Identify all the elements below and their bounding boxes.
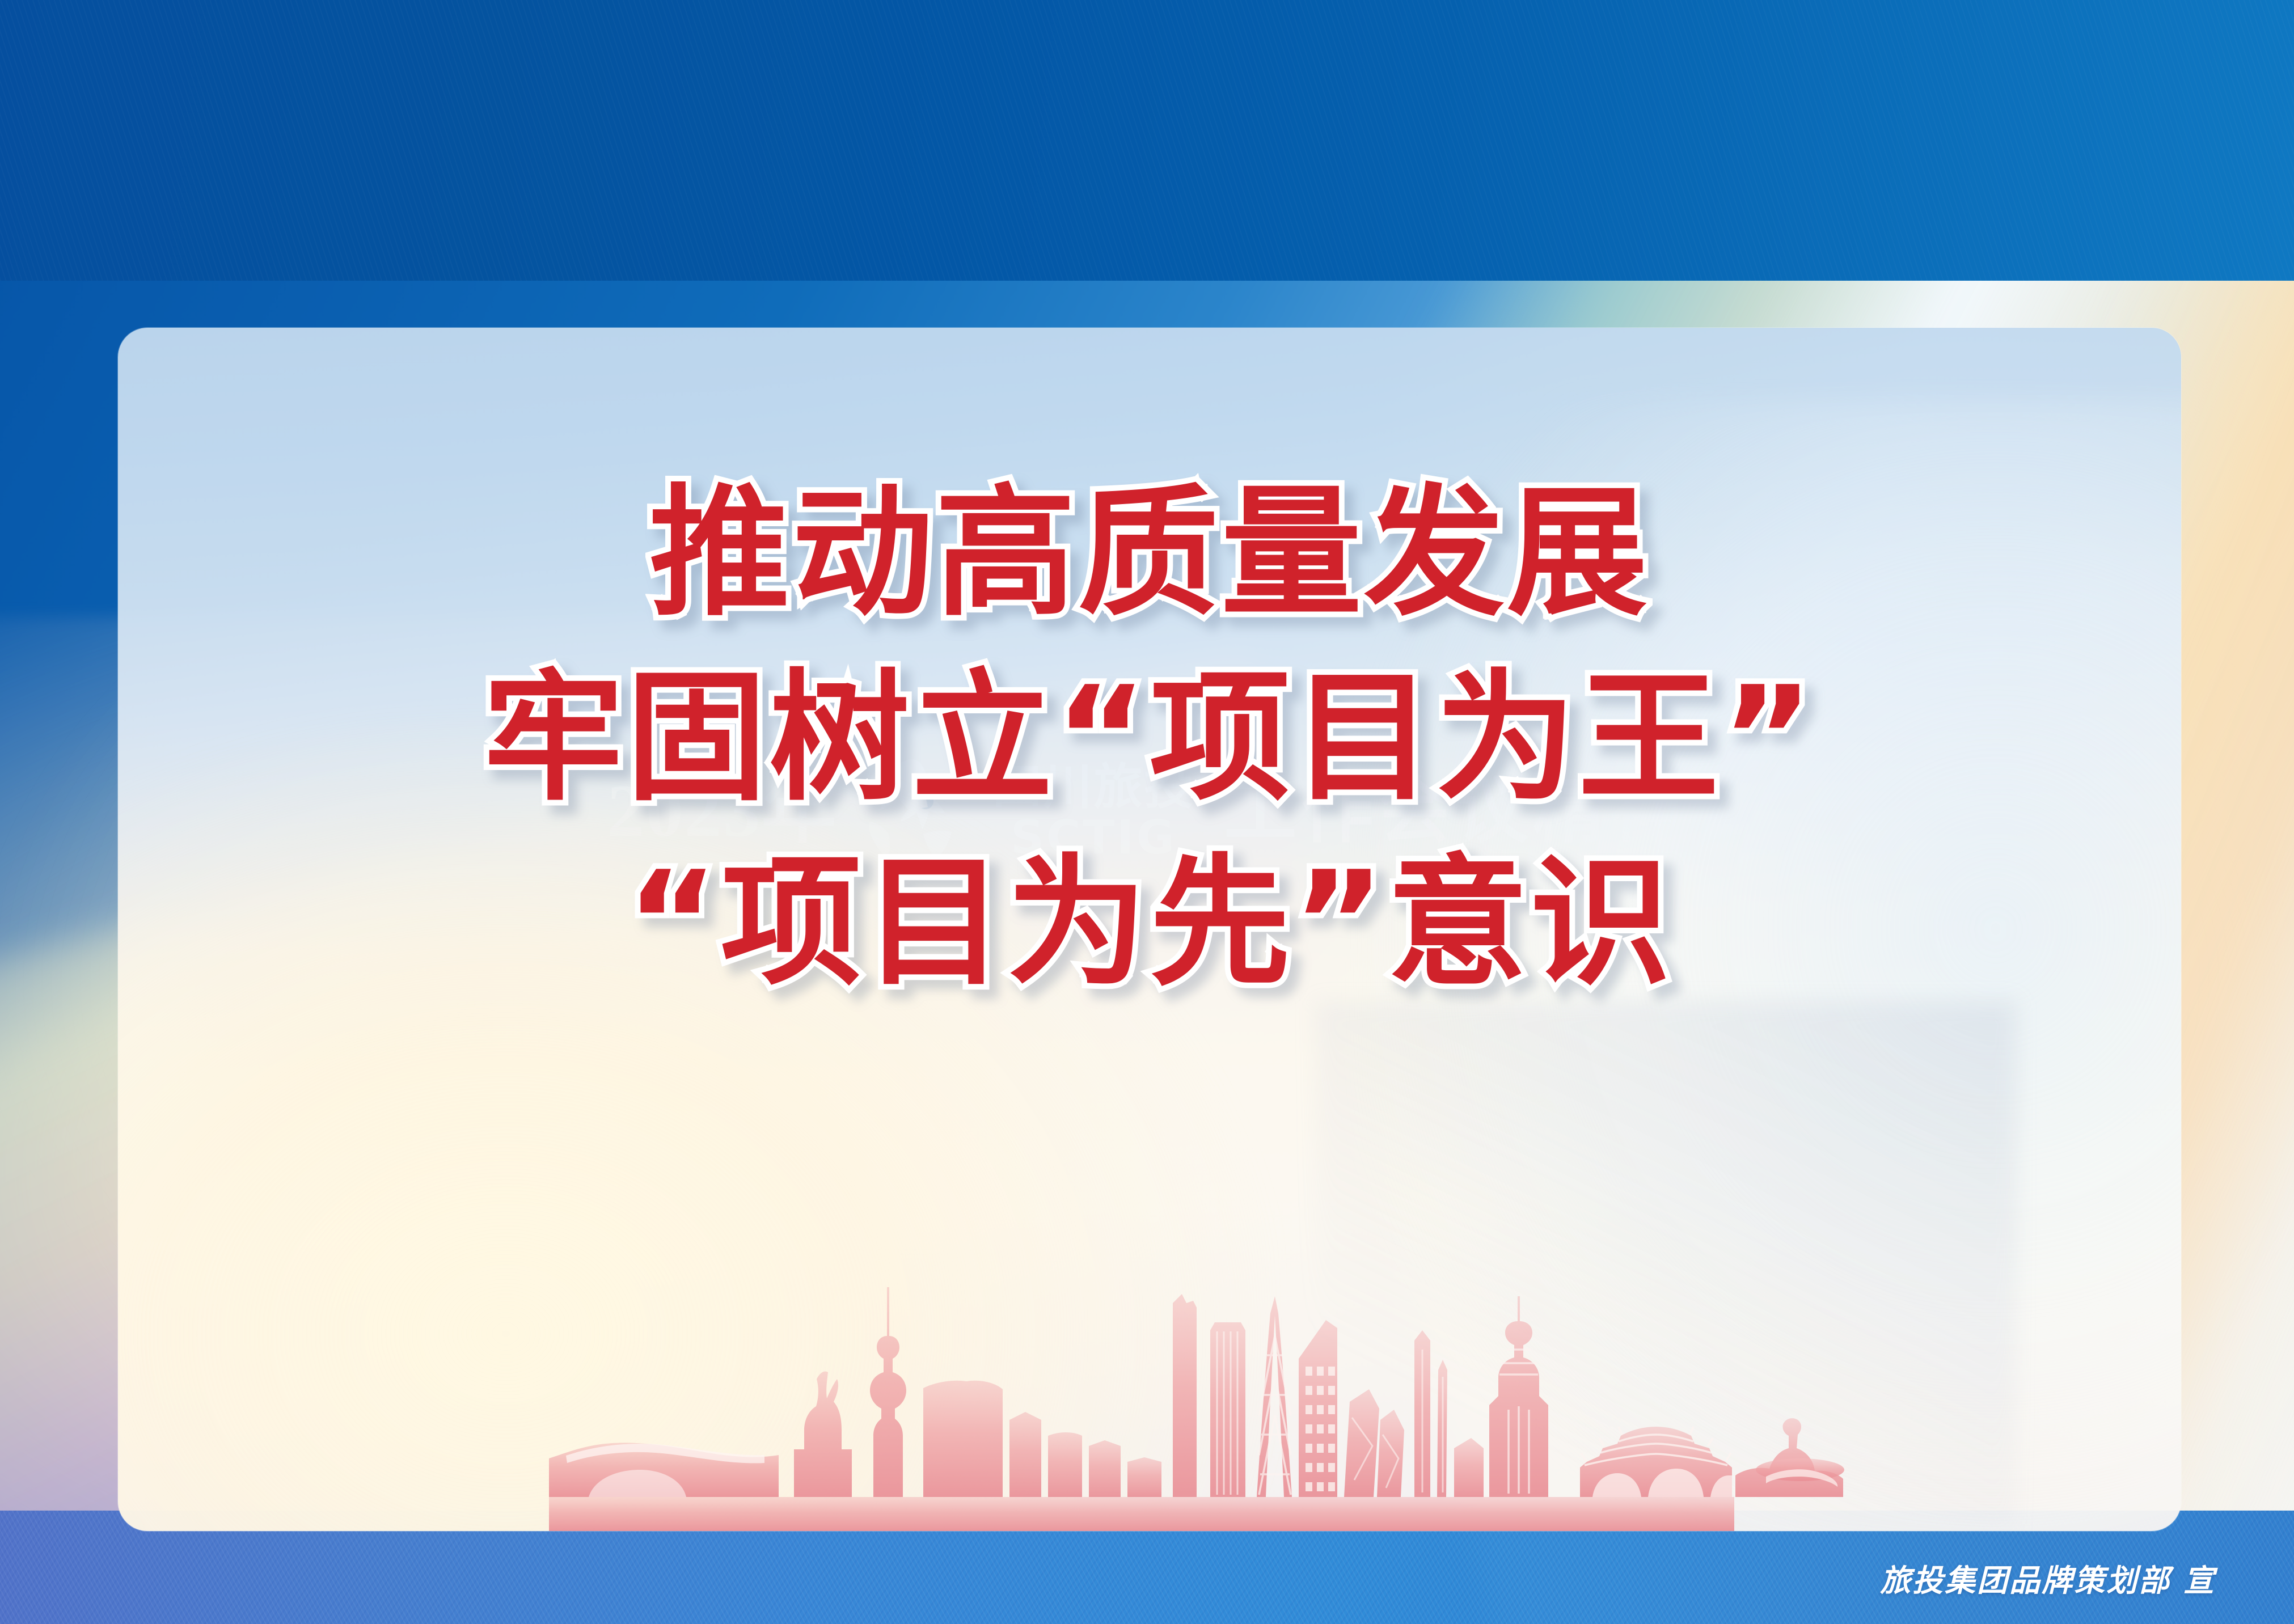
headline-line-3: “项目为先”意识	[626, 851, 1673, 997]
headline: 推动高质量发展 牢固树立“项目为王” “项目为先”意识	[118, 481, 2181, 997]
poster-root: 2023年 四川旅投 SCTIG 工作会议精神	[0, 0, 2294, 1624]
content-card: 推动高质量发展 牢固树立“项目为王” “项目为先”意识	[118, 328, 2181, 1531]
headline-line-1: 推动高质量发展	[649, 481, 1650, 627]
footer-credit: 旅投集团品牌策划部 宣	[1880, 1555, 2216, 1600]
card-mountain-shadow	[1315, 1001, 2016, 1531]
headline-line-2: 牢固树立“项目为王”	[483, 666, 1816, 812]
